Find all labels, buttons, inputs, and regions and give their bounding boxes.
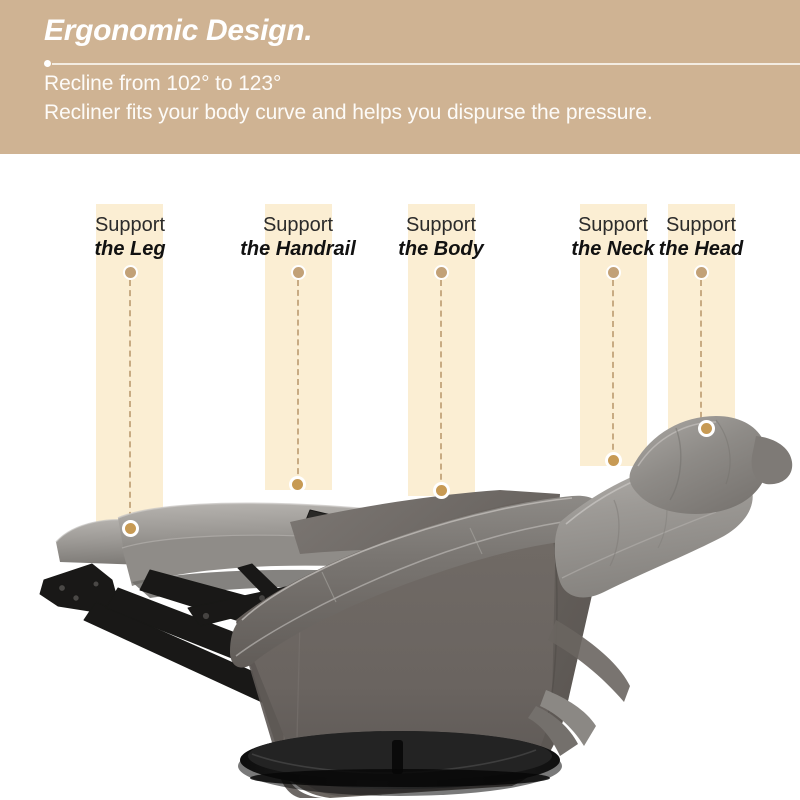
callout-anchor-dot-2 <box>291 265 306 280</box>
callout-anchor-dot-5 <box>694 265 709 280</box>
divider-dot <box>44 60 51 67</box>
callout-target-dot-3 <box>433 482 450 499</box>
callout-target-dot-4 <box>605 452 622 469</box>
banner-subtitle-line-2: Recliner fits your body curve and helps … <box>44 101 653 125</box>
callout-anchor-dot-3 <box>434 265 449 280</box>
callout-label-line-1: Support <box>351 214 531 238</box>
callout-label-line-1: Support <box>40 214 220 238</box>
callout-target-dot-1 <box>122 520 139 537</box>
callout-label-line-1: Support <box>611 214 791 238</box>
callout-anchor-dot-1 <box>123 265 138 280</box>
divider-line <box>52 63 800 65</box>
callout-label-5: Supportthe Head <box>611 214 791 261</box>
callout-label-line-2: the Head <box>611 238 791 262</box>
infographic-page: Ergonomic Design. Recline from 102° to 1… <box>0 0 800 800</box>
callout-label-line-2: the Leg <box>40 238 220 262</box>
swivel-base <box>238 731 562 796</box>
callout-label-line-2: the Body <box>351 238 531 262</box>
callout-anchor-dot-4 <box>606 265 621 280</box>
banner-subtitle-line-1: Recline from 102° to 123° <box>44 72 281 96</box>
page-title: Ergonomic Design. <box>44 14 312 48</box>
callout-target-dot-5 <box>698 420 715 437</box>
callout-label-1: Supportthe Leg <box>40 214 220 261</box>
callout-label-3: Supportthe Body <box>351 214 531 261</box>
header-banner: Ergonomic Design. Recline from 102° to 1… <box>0 0 800 154</box>
callout-target-dot-2 <box>289 476 306 493</box>
